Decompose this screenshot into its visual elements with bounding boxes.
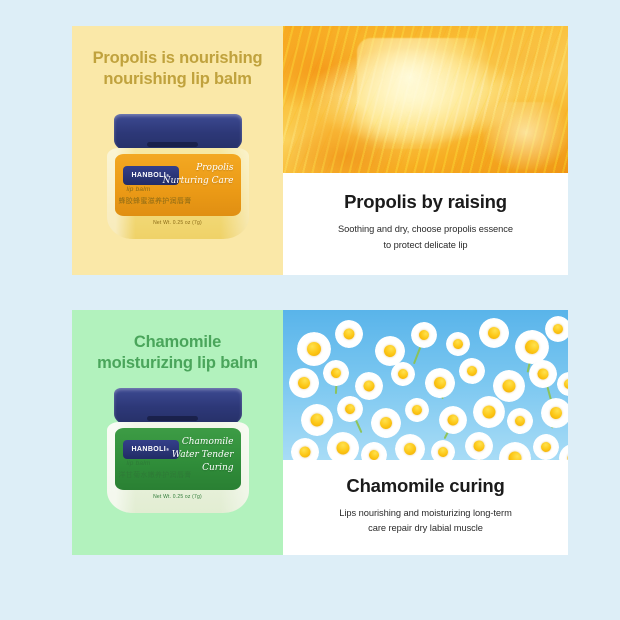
product-jar-chamomile[interactable]: HANBOLI® Chamomile Water Tender Curing l…	[103, 388, 253, 513]
caption-line-1: Soothing and dry, choose propolis essenc…	[338, 222, 513, 237]
jar-body: HANBOLI® Chamomile Water Tender Curing l…	[107, 422, 249, 513]
card-right-column-propolis: Propolis by raising Soothing and dry, ch…	[283, 26, 568, 275]
jar-chinese-name: 洋甘菊水嫩养护润唇膏	[119, 470, 192, 480]
jar-script-line-3: Curing	[202, 463, 233, 473]
jar-label-band: HANBOLI® Chamomile Water Tender Curing	[115, 428, 241, 490]
caption-chamomile: Chamomile curing Lips nourishing and moi…	[283, 460, 568, 555]
jar-script-line-1: Chamomile	[182, 437, 234, 447]
product-swatch-panel-chamomile: Chamomile moisturizing lip balm HANBOLI®…	[72, 310, 283, 555]
product-card-propolis[interactable]: Propolis is nourishing nourishing lip ba…	[72, 26, 568, 275]
panel-heading-line-1: Chamomile	[82, 332, 274, 353]
trademark-symbol: ®	[166, 447, 169, 452]
card-right-column-chamomile: Chamomile curing Lips nourishing and moi…	[283, 310, 568, 555]
brand-name: HANBOLI	[131, 446, 166, 453]
panel-heading-line-2: nourishing lip balm	[82, 69, 274, 90]
caption-line-1: Lips nourishing and moisturizing long-te…	[339, 506, 512, 521]
jar-script-line-1: Propolis	[196, 163, 233, 173]
jar-type-label: lip balm	[127, 460, 151, 467]
jar-net-weight: Net Wt. 0.25 oz (7g)	[107, 220, 249, 226]
jar-type-label: lip balm	[127, 186, 151, 193]
product-swatch-panel-propolis: Propolis is nourishing nourishing lip ba…	[72, 26, 283, 275]
caption-line-2: care repair dry labial muscle	[368, 521, 483, 536]
chamomile-flowers-photo	[283, 310, 568, 460]
jar-body: HANBOLI® Propolis Nurturing Care lip bal…	[107, 148, 249, 239]
product-jar-propolis[interactable]: HANBOLI® Propolis Nurturing Care lip bal…	[103, 114, 253, 239]
jar-net-weight: Net Wt. 0.25 oz (7g)	[107, 494, 249, 500]
jar-chinese-name: 蜂胶蜂蜜滋养护润唇膏	[119, 196, 192, 206]
caption-propolis: Propolis by raising Soothing and dry, ch…	[283, 173, 568, 275]
brand-badge: HANBOLI®	[123, 440, 179, 459]
brand-name: HANBOLI	[131, 172, 166, 179]
panel-heading-chamomile: Chamomile moisturizing lip balm	[82, 332, 274, 374]
caption-title: Chamomile curing	[346, 475, 504, 497]
panel-heading-propolis: Propolis is nourishing nourishing lip ba…	[82, 48, 274, 90]
jar-script-line-2: Water Tender	[172, 450, 234, 460]
jar-label-band: HANBOLI® Propolis Nurturing Care	[115, 154, 241, 216]
honeycomb-photo	[283, 26, 568, 173]
caption-title: Propolis by raising	[344, 191, 507, 213]
panel-heading-line-1: Propolis is nourishing	[82, 48, 274, 69]
jar-script-line-2: Nurturing Care	[163, 176, 234, 186]
product-card-chamomile[interactable]: Chamomile moisturizing lip balm HANBOLI®…	[72, 310, 568, 555]
product-feature-page: Propolis is nourishing nourishing lip ba…	[0, 0, 620, 620]
caption-line-2: to protect delicate lip	[383, 238, 467, 253]
panel-heading-line-2: moisturizing lip balm	[82, 353, 274, 374]
